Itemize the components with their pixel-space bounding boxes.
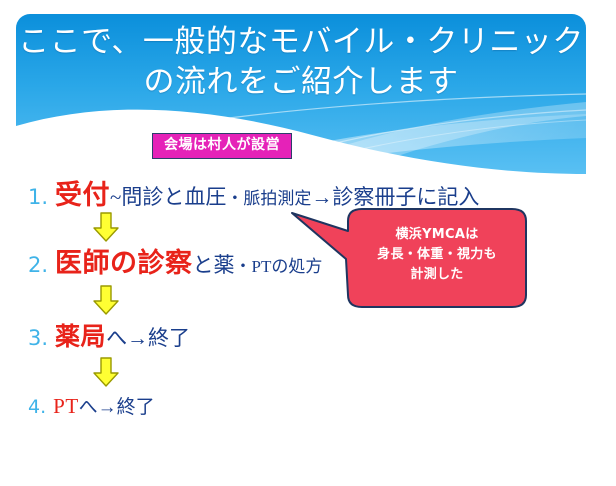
- step-2-detail: と薬: [193, 253, 235, 277]
- step-3-detail: へ→終了: [106, 326, 190, 350]
- down-arrow-icon: [93, 285, 119, 315]
- step-3-heading: 薬局: [55, 324, 106, 351]
- callout-balloon: 横浜YMCAは 身長・体重・視力も 計測した: [290, 203, 528, 313]
- step-1-detail: ~問診と血圧: [110, 185, 226, 209]
- down-arrow-icon: [93, 212, 119, 242]
- venue-label: 会場は村人が設営: [152, 133, 292, 159]
- step-4-heading: PT: [53, 394, 79, 418]
- step-4-detail: へ→終了: [79, 397, 155, 418]
- list-item-step-3: 3.薬局へ→終了: [28, 325, 190, 350]
- step-2-number: 2.: [28, 253, 48, 277]
- callout-balloon-shape: [290, 203, 528, 313]
- down-arrow-icon: [93, 357, 119, 387]
- list-item-step-4: 4.PTへ→終了: [28, 396, 155, 417]
- step-4-number: 4.: [28, 396, 46, 418]
- header-wave-graphic: [16, 14, 586, 174]
- step-2-heading: 医師の診察: [55, 248, 193, 278]
- step-1-number: 1.: [28, 185, 48, 209]
- slide-canvas: ここで、一般的なモバイル・クリニック の流れをご紹介します 会場は村人が設営 1…: [0, 0, 616, 486]
- step-3-number: 3.: [28, 326, 48, 350]
- list-item-step-2: 2.医師の診察と薬・PTの処方: [28, 250, 322, 277]
- step-1-heading: 受付: [55, 180, 110, 210]
- header-banner: [16, 14, 586, 174]
